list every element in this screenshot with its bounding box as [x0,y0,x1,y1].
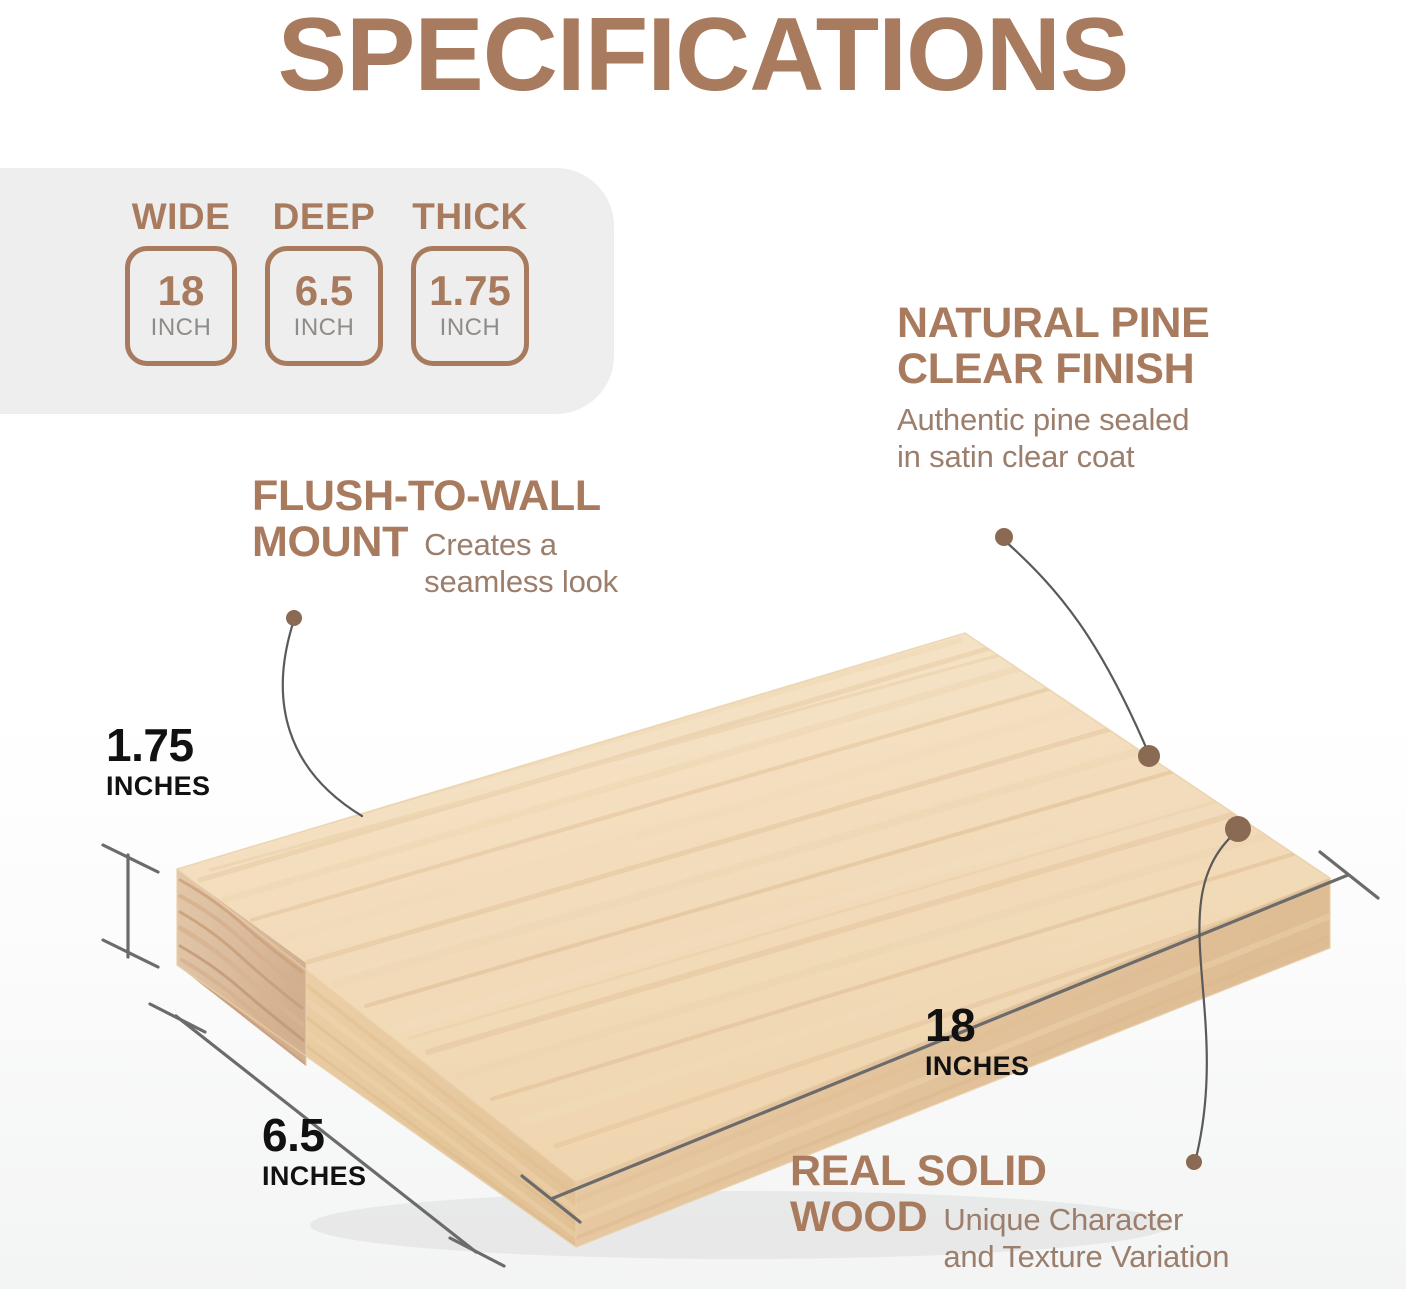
dimension-unit-thickness: INCHES [106,771,210,802]
dimension-label-thickness: 1.75 INCHES [106,722,210,802]
callout-natural-pine-heading: NATURAL PINE CLEAR FINISH [897,300,1210,392]
callout-real-solid-wood-sub-line1: Unique Character [943,1202,1229,1239]
callout-natural-pine: NATURAL PINE CLEAR FINISH Authentic pine… [897,300,1210,475]
dimension-value-width: 18 [925,1002,1029,1048]
board-top-face [177,633,1330,1182]
callout-real-solid-wood-heading-line1: REAL SOLID [790,1148,1400,1194]
callout-natural-pine-heading-line1: NATURAL PINE [897,300,1210,346]
callout-flush-to-wall-heading-line2: MOUNT [252,519,408,565]
dimension-unit-depth: INCHES [262,1161,366,1192]
callout-flush-to-wall-sub-line1: Creates a [424,527,618,564]
dimension-line-thickness [103,845,158,967]
callout-real-solid-wood-sub: Unique Character and Texture Variation [943,1194,1229,1275]
callout-natural-pine-heading-line2: CLEAR FINISH [897,346,1210,392]
dimension-value-depth: 6.5 [262,1112,366,1158]
callout-natural-pine-sub-line2: in satin clear coat [897,439,1210,476]
callout-real-solid-wood-second-row: WOOD Unique Character and Texture Variat… [790,1194,1400,1275]
product-illustration [0,0,1406,1289]
callout-dot-real-solid-wood-start [1225,816,1251,842]
callout-natural-pine-sub-line1: Authentic pine sealed [897,402,1210,439]
leader-line-flush-to-wall [283,620,362,816]
callout-real-solid-wood-sub-line2: and Texture Variation [943,1239,1229,1276]
callout-real-solid-wood: REAL SOLID WOOD Unique Character and Tex… [790,1148,1400,1275]
callout-flush-to-wall-second-row: MOUNT Creates a seamless look [252,519,792,600]
callout-dot-flush-to-wall [286,610,302,626]
callout-flush-to-wall-sub: Creates a seamless look [424,519,618,600]
callout-dot-natural-pine-start [995,528,1013,546]
infographic-stage: SPECIFICATIONS WIDE 18 INCH DEEP 6.5 INC… [0,0,1406,1289]
dimension-unit-width: INCHES [925,1051,1029,1082]
callout-flush-to-wall-heading-line1: FLUSH-TO-WALL [252,473,792,519]
callout-flush-to-wall-sub-line2: seamless look [424,564,618,601]
callout-natural-pine-sub: Authentic pine sealed in satin clear coa… [897,402,1210,475]
dimension-label-depth: 6.5 INCHES [262,1112,366,1192]
callout-flush-to-wall: FLUSH-TO-WALL MOUNT Creates a seamless l… [252,473,792,600]
dimension-label-width: 18 INCHES [925,1002,1029,1082]
callout-real-solid-wood-heading-line2: WOOD [790,1194,927,1240]
callout-dot-natural-pine-end [1138,745,1160,767]
dimension-value-thickness: 1.75 [106,722,210,768]
